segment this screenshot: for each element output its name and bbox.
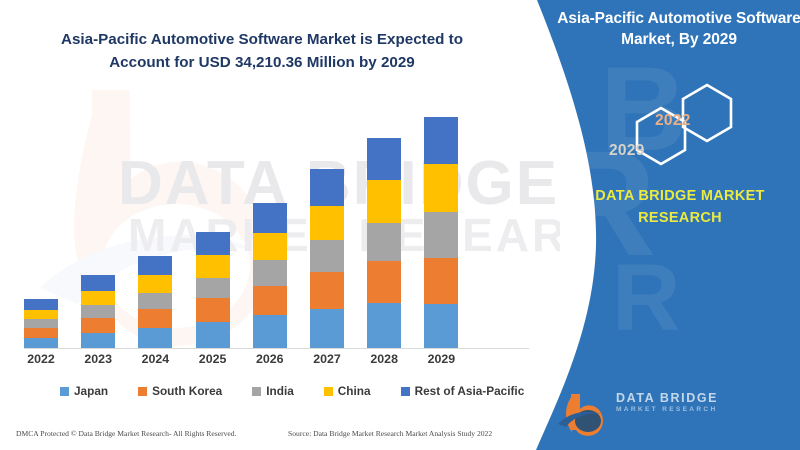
bar-segment-japan [424, 304, 458, 349]
bar-segment-india [367, 223, 401, 262]
infographic-root: R B R Asia-Pacific Automotive Software M… [0, 0, 800, 450]
legend-label: Japan [74, 384, 108, 398]
bar-segment-rest-of-asia-pacific [138, 256, 172, 275]
legend-item-china[interactable]: China [324, 384, 371, 398]
chart-legend: JapanSouth KoreaIndiaChinaRest of Asia-P… [24, 381, 534, 401]
x-tick-2028: 2028 [354, 352, 414, 366]
bar-segment-china [24, 310, 58, 319]
legend-swatch-icon [138, 387, 147, 396]
bar-segment-china [253, 233, 287, 260]
x-tick-2022: 2022 [11, 352, 71, 366]
bar-segment-rest-of-asia-pacific [367, 138, 401, 180]
panel-logo-line-1: DATA BRIDGE [616, 391, 718, 405]
footer-copyright: DMCA Protected © Data Bridge Market Rese… [16, 429, 236, 438]
bar-segment-china [367, 180, 401, 223]
bar-segment-south-korea [81, 318, 115, 333]
bar-segment-japan [196, 322, 230, 349]
panel-logo-line-2: MARKET RESEARCH [616, 405, 718, 416]
bar-segment-south-korea [424, 258, 458, 304]
panel-logo-text: DATA BRIDGE MARKET RESEARCH [616, 391, 718, 416]
bar-segment-india [310, 240, 344, 272]
bar-segment-india [196, 278, 230, 298]
bar-segment-china [424, 164, 458, 212]
brand-line-2: RESEARCH [558, 208, 800, 230]
legend-item-india[interactable]: India [252, 384, 294, 398]
hexagon-2029-label: 2029 [609, 142, 645, 160]
bar-segment-south-korea [196, 298, 230, 322]
panel-content: Asia-Pacific Automotive Software Market,… [600, 0, 800, 450]
x-tick-2026: 2026 [240, 352, 300, 366]
bar-column [253, 203, 287, 349]
bar-segment-india [424, 212, 458, 259]
bar-segment-india [253, 260, 287, 286]
footer: DMCA Protected © Data Bridge Market Rese… [0, 425, 560, 450]
legend-swatch-icon [60, 387, 69, 396]
x-tick-2027: 2027 [297, 352, 357, 366]
brand-line-1: DATA BRIDGE MARKET [558, 186, 800, 208]
legend-label: India [266, 384, 294, 398]
bar-segment-south-korea [253, 286, 287, 315]
x-tick-2023: 2023 [68, 352, 128, 366]
bar-segment-india [138, 293, 172, 309]
bar-segment-china [310, 206, 344, 241]
bar-segment-china [138, 275, 172, 293]
x-tick-2029: 2029 [411, 352, 471, 366]
bar-segment-china [81, 291, 115, 305]
legend-label: South Korea [152, 384, 222, 398]
bar-column [367, 138, 401, 349]
bar-segment-india [81, 305, 115, 318]
bar-segment-rest-of-asia-pacific [196, 232, 230, 256]
footer-source: Source: Data Bridge Market Research Mark… [288, 429, 492, 438]
bar-segment-china [196, 255, 230, 278]
bar-column [196, 232, 230, 349]
legend-swatch-icon [252, 387, 261, 396]
bar-segment-south-korea [310, 272, 344, 309]
bar-segment-south-korea [138, 309, 172, 328]
bar-column [138, 256, 172, 349]
bar-segment-rest-of-asia-pacific [310, 169, 344, 206]
legend-label: China [338, 384, 371, 398]
bar-segment-japan [253, 315, 287, 349]
bar-segment-japan [310, 309, 344, 349]
panel-title: Asia-Pacific Automotive Software Market,… [555, 8, 800, 51]
x-tick-2025: 2025 [183, 352, 243, 366]
legend-item-japan[interactable]: Japan [60, 384, 108, 398]
bar-segment-rest-of-asia-pacific [424, 117, 458, 164]
plot-area [24, 100, 524, 349]
brand-name: DATA BRIDGE MARKET RESEARCH [558, 186, 800, 230]
x-axis-line [24, 348, 529, 349]
bar-segment-japan [367, 303, 401, 349]
bar-segment-japan [138, 328, 172, 349]
bar-segment-rest-of-asia-pacific [253, 203, 287, 234]
bar-segment-south-korea [367, 261, 401, 303]
bar-segment-rest-of-asia-pacific [81, 275, 115, 291]
panel-logo: DATA BRIDGE MARKET RESEARCH [558, 385, 758, 440]
bar-column [24, 299, 58, 349]
bar-column [81, 275, 115, 349]
legend-swatch-icon [324, 387, 333, 396]
bar-segment-india [24, 319, 58, 328]
legend-item-rest-of-asia-pacific[interactable]: Rest of Asia-Pacific [401, 384, 525, 398]
legend-label: Rest of Asia-Pacific [415, 384, 525, 398]
x-tick-2024: 2024 [125, 352, 185, 366]
bar-segment-south-korea [24, 328, 58, 338]
legend-item-south-korea[interactable]: South Korea [138, 384, 222, 398]
hexagon-2022-label: 2022 [655, 112, 691, 130]
bar-column [310, 169, 344, 349]
bar-segment-japan [81, 333, 115, 349]
legend-swatch-icon [401, 387, 410, 396]
bar-column [424, 117, 458, 349]
stacked-bar-chart: 20222023202420252026202720282029 JapanSo… [0, 0, 560, 450]
bar-segment-rest-of-asia-pacific [24, 299, 58, 310]
